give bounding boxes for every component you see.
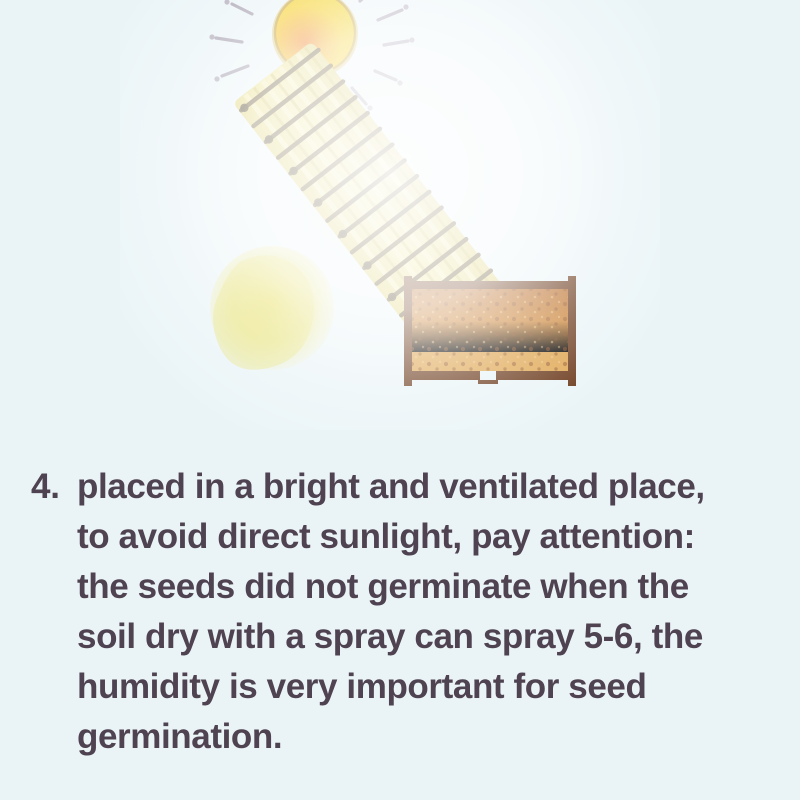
instruction-card: 4. placed in a bright and ventilated pla… — [0, 0, 800, 800]
caption-line: germination. — [77, 712, 790, 762]
yellow-glow-blob — [210, 246, 334, 370]
caption-lines: placed in a bright and ventilated place,… — [77, 462, 800, 762]
list-marker: 4. — [31, 462, 77, 512]
caption-line: to avoid direct sunlight, pay attention: — [77, 512, 790, 562]
caption-row: 4. placed in a bright and ventilated pla… — [0, 462, 800, 762]
illustration-svg — [0, 0, 800, 440]
caption-line: the seeds did not germinate when the — [77, 562, 790, 612]
illustration-panel — [0, 0, 800, 440]
caption-line: soil dry with a spray can spray 5-6, the — [77, 612, 790, 662]
caption-line: placed in a bright and ventilated place, — [77, 462, 790, 512]
caption-line: humidity is very important for seed — [77, 662, 790, 712]
caption-block: 4. placed in a bright and ventilated pla… — [0, 462, 800, 762]
seed-tray-icon — [404, 276, 576, 386]
